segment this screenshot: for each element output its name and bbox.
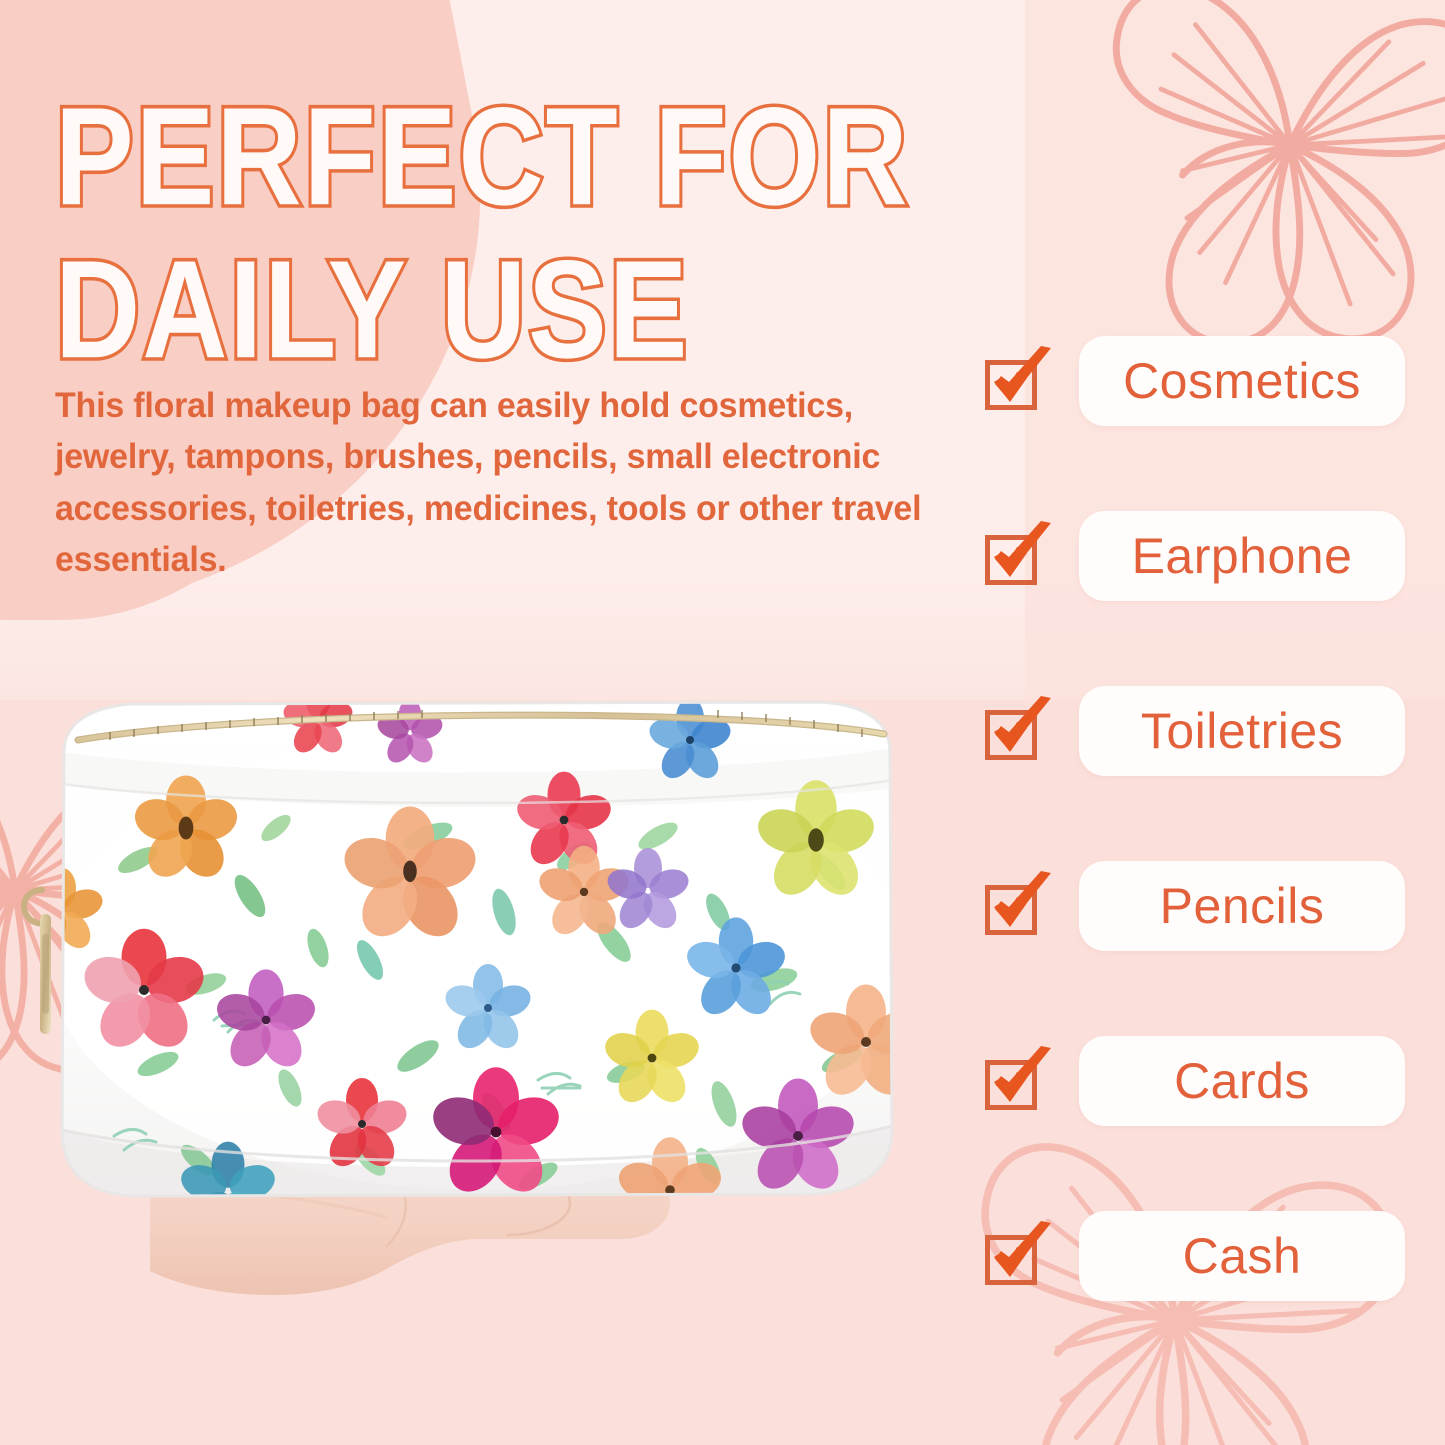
checkmark-icon — [983, 521, 1055, 591]
checklist-label: Cash — [1183, 1231, 1302, 1281]
checklist-pill[interactable]: Cash — [1079, 1211, 1405, 1301]
checklist-item-pencils[interactable]: Pencils — [985, 861, 1405, 951]
checkmark-icon — [983, 1221, 1055, 1291]
checkbox-checked-icon[interactable] — [985, 702, 1043, 760]
checklist-label: Pencils — [1160, 881, 1325, 931]
checklist-pill[interactable]: Cards — [1079, 1036, 1405, 1126]
checkbox-checked-icon[interactable] — [985, 1052, 1043, 1110]
headline-line-1: PERFECT FOR — [55, 78, 1015, 237]
checklist-label: Earphone — [1132, 531, 1353, 581]
checkbox-checked-icon[interactable] — [985, 352, 1043, 410]
checkmark-icon — [983, 346, 1055, 416]
checkmark-icon — [983, 696, 1055, 766]
checkbox-checked-icon[interactable] — [985, 1227, 1043, 1285]
checklist-item-cosmetics[interactable]: Cosmetics — [985, 336, 1405, 426]
checklist-label: Cosmetics — [1123, 356, 1361, 406]
checkbox-checked-icon[interactable] — [985, 877, 1043, 935]
checkmark-icon — [983, 1046, 1055, 1116]
poster-canvas: PERFECT FOR DAILY USE This floral makeup… — [0, 0, 1445, 1445]
page-title: PERFECT FOR DAILY USE — [55, 78, 1015, 365]
checklist-item-earphone[interactable]: Earphone — [985, 511, 1405, 601]
checklist-item-cards[interactable]: Cards — [985, 1036, 1405, 1126]
headline-line-2: DAILY USE — [55, 231, 1015, 390]
product-description: This floral makeup bag can easily hold c… — [55, 380, 933, 586]
checklist-label: Toiletries — [1141, 706, 1343, 756]
checklist-pill[interactable]: Earphone — [1079, 511, 1405, 601]
checkbox-checked-icon[interactable] — [985, 527, 1043, 585]
checklist-item-cash[interactable]: Cash — [985, 1211, 1405, 1301]
checklist-pill[interactable]: Pencils — [1079, 861, 1405, 951]
feature-checklist: Cosmetics Earphone — [985, 336, 1405, 1301]
checkmark-icon — [983, 871, 1055, 941]
checklist-label: Cards — [1174, 1056, 1310, 1106]
product-image-makeup-bag — [18, 660, 938, 1300]
checklist-pill[interactable]: Cosmetics — [1079, 336, 1405, 426]
checklist-item-toiletries[interactable]: Toiletries — [985, 686, 1405, 776]
checklist-pill[interactable]: Toiletries — [1079, 686, 1405, 776]
